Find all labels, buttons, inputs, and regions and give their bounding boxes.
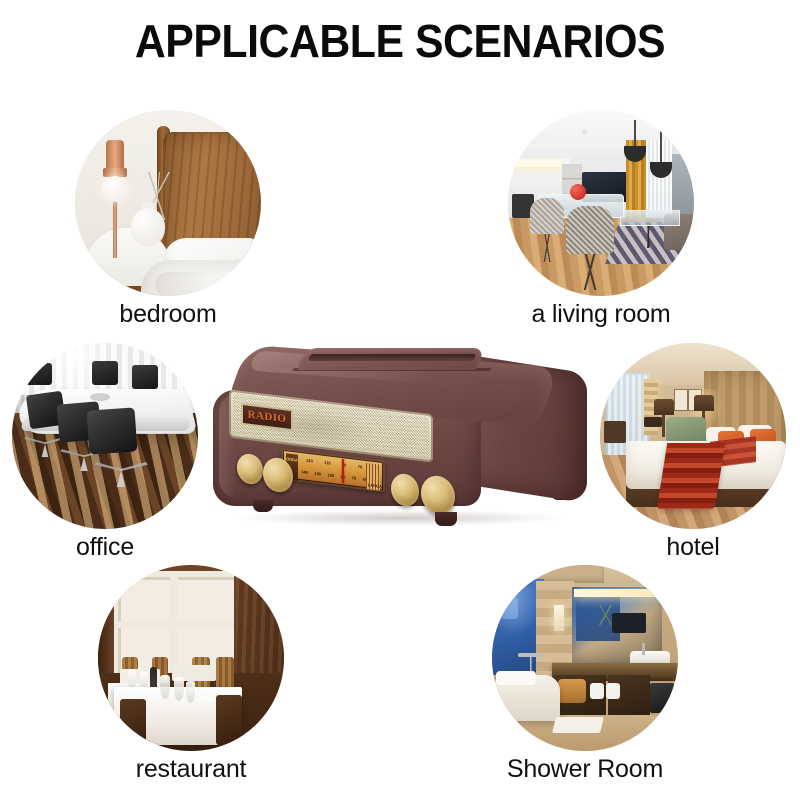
living-woven-chair-1	[530, 198, 564, 234]
scenario-label-bedroom: bedroom	[75, 300, 261, 329]
product-dial-left-label: ONDA	[286, 456, 298, 462]
hotel-lamp-stem-1	[662, 415, 665, 437]
living-pendant-cord-1	[634, 120, 636, 148]
scenario-bedroom[interactable]: bedroom	[75, 110, 261, 329]
page-title: APPLICABLE SCENARIOS	[28, 14, 772, 68]
hotel-green-armchair	[666, 417, 706, 443]
scenario-image-bedroom	[75, 110, 261, 296]
shower-wall-decor	[502, 597, 518, 619]
shower-waste-bin	[650, 683, 674, 713]
shower-wall-sconce	[554, 605, 564, 631]
shower-mirror-tv	[612, 613, 646, 633]
dial-tick-bottom-4: 100	[328, 473, 335, 478]
office-chair-back-2	[92, 361, 118, 385]
hotel-desk	[604, 421, 626, 443]
scenario-label-restaurant: restaurant	[98, 755, 284, 784]
office-scene	[12, 343, 198, 529]
scenario-living-room[interactable]: a living room	[508, 110, 694, 329]
dial-tick-bottom-2: 140	[301, 470, 308, 475]
bedroom-lamp-bulb	[102, 176, 128, 202]
living-red-apple-decor	[570, 184, 586, 200]
scenario-image-living-room	[508, 110, 694, 296]
restaurant-wine-glass-4	[174, 677, 184, 701]
living-chair-legs-2	[570, 250, 612, 290]
office-table-cable-port	[90, 393, 110, 401]
scenario-label-shower-room: Shower Room	[492, 755, 678, 784]
dial-tick-bottom-6: 75	[352, 476, 356, 481]
living-woven-chair-2	[566, 206, 614, 254]
shower-mirror-light	[574, 589, 660, 597]
office-chair-back-3	[132, 365, 158, 389]
scenario-label-hotel: hotel	[600, 533, 786, 562]
scenario-label-office: office	[12, 533, 198, 562]
restaurant-scene	[98, 565, 284, 751]
living-coffee-table	[620, 210, 680, 226]
dial-tick-top-3: 110	[324, 461, 330, 466]
living-ceiling-light-1	[546, 122, 552, 126]
scenario-image-shower-room	[492, 565, 678, 751]
restaurant-front-chair-2	[216, 695, 242, 745]
scenario-image-office	[12, 343, 198, 529]
shower-faucet	[642, 643, 645, 655]
product-radio-badge-text: RADIO	[248, 409, 287, 426]
living-room-scene	[508, 110, 694, 296]
shower-rolled-towel-2	[606, 683, 620, 699]
office-chair-front-3	[87, 407, 138, 454]
office-chair-back-1	[26, 363, 52, 385]
shower-ottoman-stool	[558, 679, 586, 703]
scenario-hotel[interactable]: hotel	[600, 343, 786, 562]
scenario-image-hotel	[600, 343, 786, 529]
product-foot-center	[435, 512, 457, 526]
shower-room-scene	[492, 565, 678, 751]
scenario-label-living-room: a living room	[508, 300, 694, 329]
dial-tick-bottom-3: 120	[314, 472, 321, 477]
shower-rolled-towel-1	[590, 683, 604, 699]
shower-bath-mat	[552, 717, 604, 733]
bedroom-duvet-fold	[155, 272, 241, 296]
restaurant-window-mullion-horizontal	[112, 621, 236, 628]
hotel-wall-art-1	[674, 389, 688, 411]
product-retro-radio[interactable]: RADIO 150 130 110 90 70 60 160 140 120 1…	[205, 342, 595, 534]
product-foot-left	[253, 500, 273, 512]
living-pendant-cord-2	[660, 130, 662, 164]
hotel-bed-runner	[657, 443, 725, 509]
product-tissue-slot[interactable]	[308, 354, 477, 361]
living-chair-legs-1	[534, 230, 562, 262]
product-dial-needle	[342, 459, 344, 483]
restaurant-bg-chair-4	[216, 657, 234, 689]
scenario-shower-room[interactable]: Shower Room	[492, 565, 678, 784]
restaurant-wine-glass-5	[186, 681, 195, 703]
scenario-restaurant[interactable]: restaurant	[98, 565, 284, 784]
shower-tub-towel	[496, 671, 536, 685]
hotel-lampshade-1	[654, 399, 674, 415]
scenario-office[interactable]: office	[12, 343, 198, 562]
product-ground-shadow	[235, 510, 565, 526]
hotel-scene	[600, 343, 786, 529]
living-window-view	[672, 154, 694, 216]
hotel-side-table	[644, 417, 662, 427]
living-kitchen-light	[510, 160, 562, 167]
bedroom-vase	[131, 208, 165, 246]
restaurant-wine-glass-3	[160, 675, 170, 699]
living-ceiling-light-2	[582, 130, 588, 134]
dial-tick-top-5: 70	[358, 465, 362, 470]
restaurant-front-chair-1	[120, 699, 146, 745]
scenario-image-restaurant	[98, 565, 284, 751]
hotel-lampshade-2	[694, 395, 714, 411]
bedroom-scene	[75, 110, 261, 296]
dial-tick-top-2: 130	[306, 459, 313, 464]
